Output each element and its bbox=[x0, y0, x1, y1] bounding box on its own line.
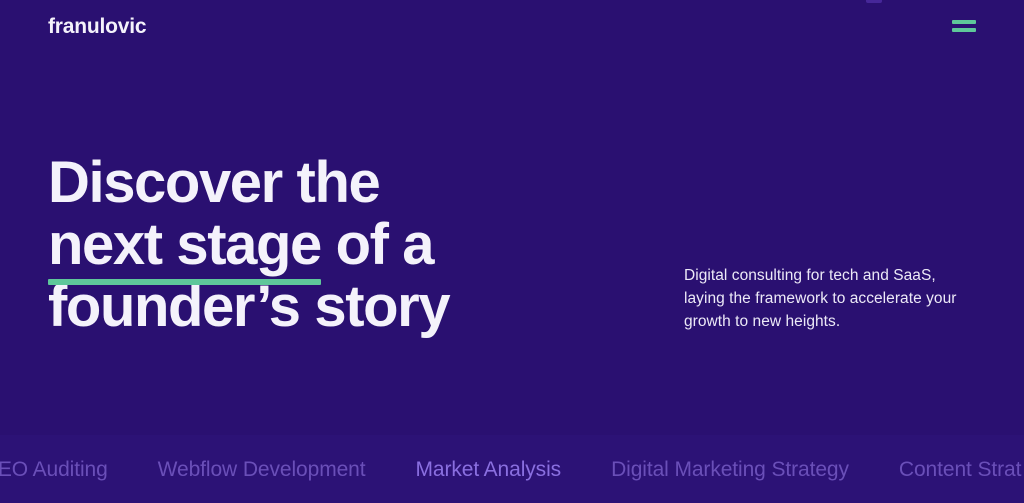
marquee-item[interactable]: Digital Marketing Strategy bbox=[586, 459, 874, 480]
marquee-item[interactable]: Webflow Development bbox=[133, 459, 391, 480]
hamburger-bar-top bbox=[952, 20, 976, 24]
marquee-track: e & SEO AuditingWebflow DevelopmentMarke… bbox=[0, 459, 1024, 480]
headline-line-2-rest: of a bbox=[321, 212, 433, 277]
marquee-item[interactable]: Market Analysis bbox=[391, 459, 587, 480]
hamburger-bar-bottom bbox=[952, 28, 976, 32]
headline-line-3: founder’s story bbox=[48, 276, 449, 338]
hero-subtext: Digital consulting for tech and SaaS, la… bbox=[684, 264, 974, 333]
site-navbar: franulovic bbox=[0, 0, 1024, 52]
brand-logo[interactable]: franulovic bbox=[48, 16, 146, 37]
hamburger-menu-icon[interactable] bbox=[952, 15, 976, 37]
hero-page: franulovic Discover the next stage of a … bbox=[0, 0, 1024, 503]
marquee-item[interactable]: e & SEO Auditing bbox=[0, 459, 133, 480]
marquee-item[interactable]: Content Strat bbox=[874, 459, 1024, 480]
headline-line-1: Discover the bbox=[48, 152, 449, 214]
headline-highlight: next stage bbox=[48, 214, 321, 276]
headline-line-2: next stage of a bbox=[48, 214, 449, 276]
services-marquee: e & SEO AuditingWebflow DevelopmentMarke… bbox=[0, 435, 1024, 503]
page-title: Discover the next stage of a founder’s s… bbox=[48, 152, 449, 338]
hero-section: Discover the next stage of a founder’s s… bbox=[0, 0, 1024, 435]
